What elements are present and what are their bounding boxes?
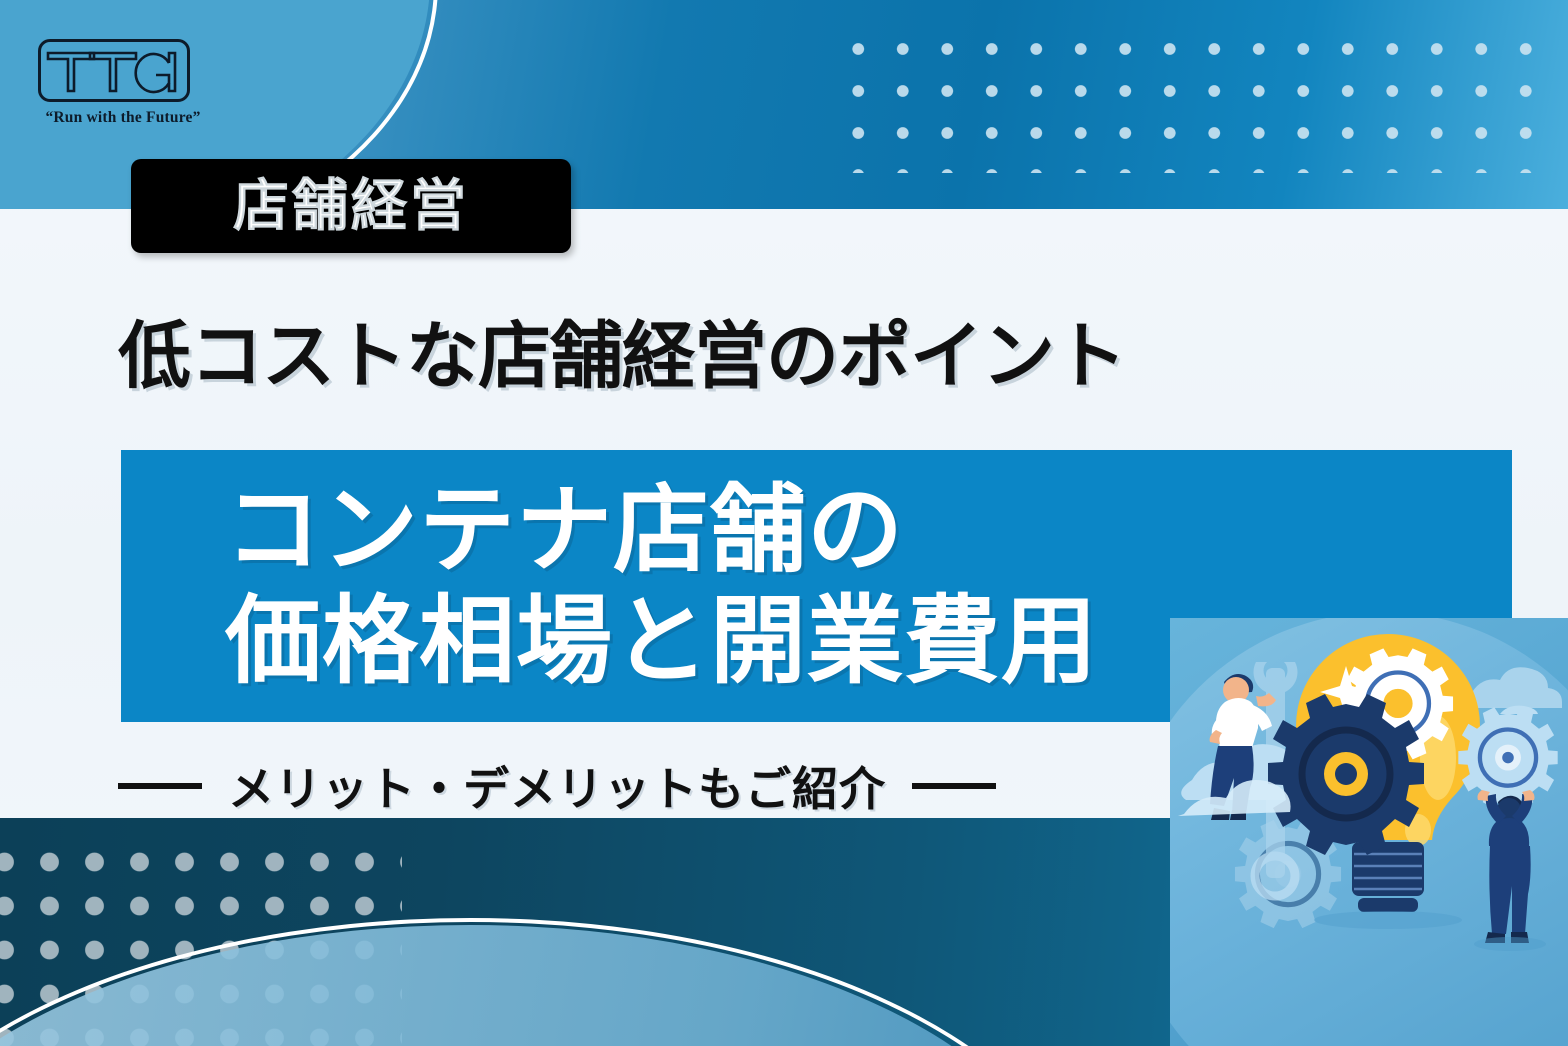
- ttg-logo-icon: [38, 39, 190, 102]
- shadow-person-right: [1474, 937, 1546, 951]
- caption-rule-left: [118, 783, 202, 789]
- caption-row: メリット・デメリットもご紹介: [118, 757, 996, 815]
- dot-grid-top-right: [836, 28, 1548, 173]
- kicker-heading: 低コストな店舗経営のポイント: [118, 318, 1418, 395]
- poster-canvas: “Run with the Future” 店舗経営 低コストな店舗経営のポイン…: [0, 0, 1568, 1046]
- caption-text: メリット・デメリットもご紹介: [228, 753, 886, 819]
- hero-illustration: [1170, 618, 1568, 1046]
- caption-rule-right: [912, 783, 996, 789]
- main-title-line-1: コンテナ店舗の: [225, 475, 1512, 586]
- illustration-artwork: [1170, 618, 1568, 1046]
- category-badge: 店舗経営: [131, 159, 571, 253]
- shadow-bulb: [1314, 911, 1462, 929]
- brand-tagline: “Run with the Future”: [33, 109, 213, 127]
- category-badge-label: 店舗経営: [233, 178, 469, 234]
- brand-logo: “Run with the Future”: [33, 39, 213, 139]
- person-lifting-gear-illustration: [1478, 790, 1535, 943]
